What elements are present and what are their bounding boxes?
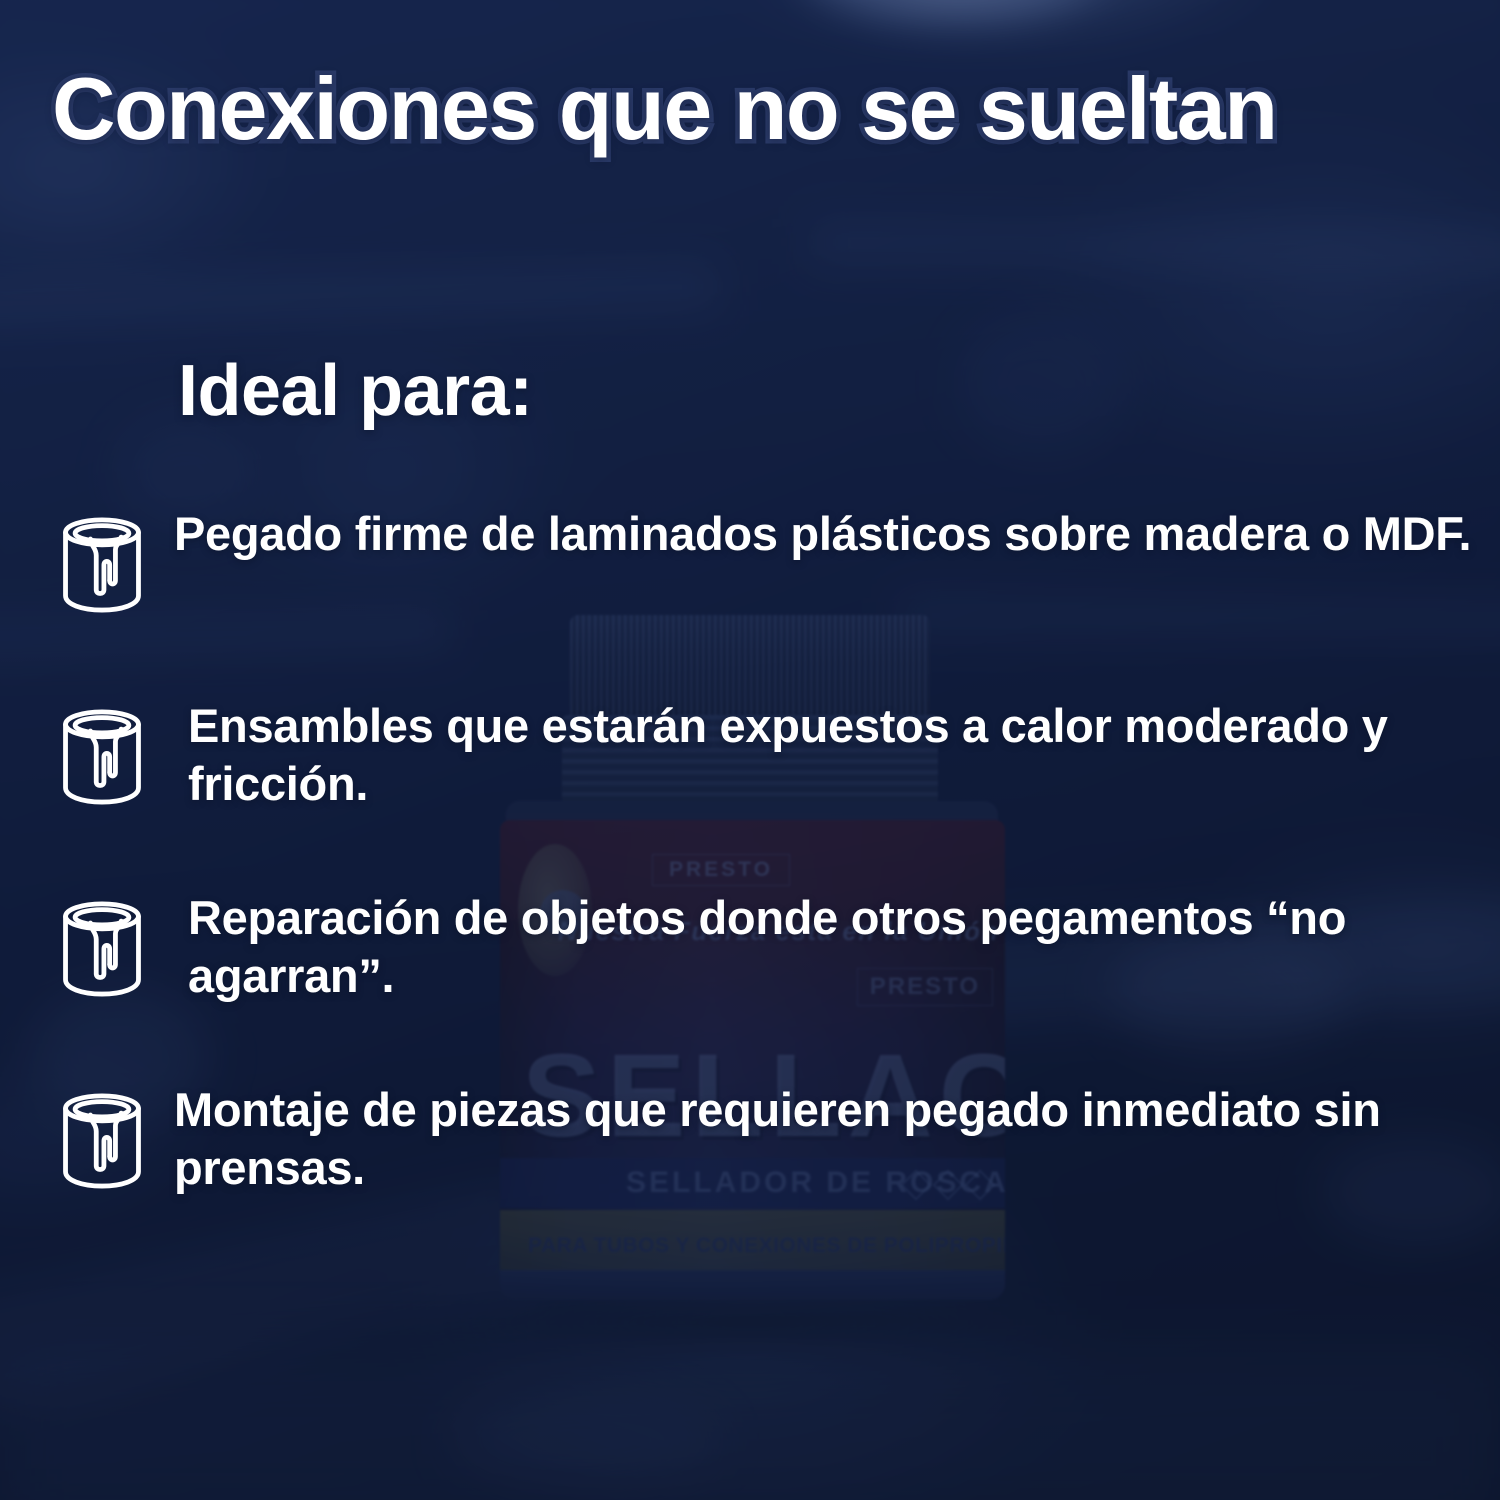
glue-can-icon (54, 703, 150, 809)
list-item-label: Reparación de objetos donde otros pegame… (188, 889, 1500, 1006)
glue-can-icon (54, 895, 150, 1001)
promotional-poster: PRESTO Nuestra Fuerza está en la Unión P… (0, 0, 1500, 1500)
list-item: Ensambles que estarán expuestos a calor … (48, 697, 1488, 889)
section-subtitle: Ideal para: (178, 350, 533, 432)
list-item: Reparación de objetos donde otros pegame… (48, 889, 1488, 1081)
glue-can-icon (54, 511, 150, 617)
list-item-label: Ensambles que estarán expuestos a calor … (188, 697, 1500, 814)
poster-content: Conexiones que no se sueltan Ideal para:… (0, 0, 1500, 1500)
list-item-label: Pegado firme de laminados plásticos sobr… (174, 505, 1494, 563)
list-item: Montaje de piezas que requieren pegado i… (48, 1081, 1488, 1273)
glue-can-icon (54, 1087, 150, 1193)
list-item-label: Montaje de piezas que requieren pegado i… (174, 1081, 1494, 1198)
page-title: Conexiones que no se sueltan (52, 62, 1472, 155)
list-item: Pegado firme de laminados plásticos sobr… (48, 505, 1488, 697)
benefits-list: Pegado firme de laminados plásticos sobr… (48, 505, 1488, 1273)
